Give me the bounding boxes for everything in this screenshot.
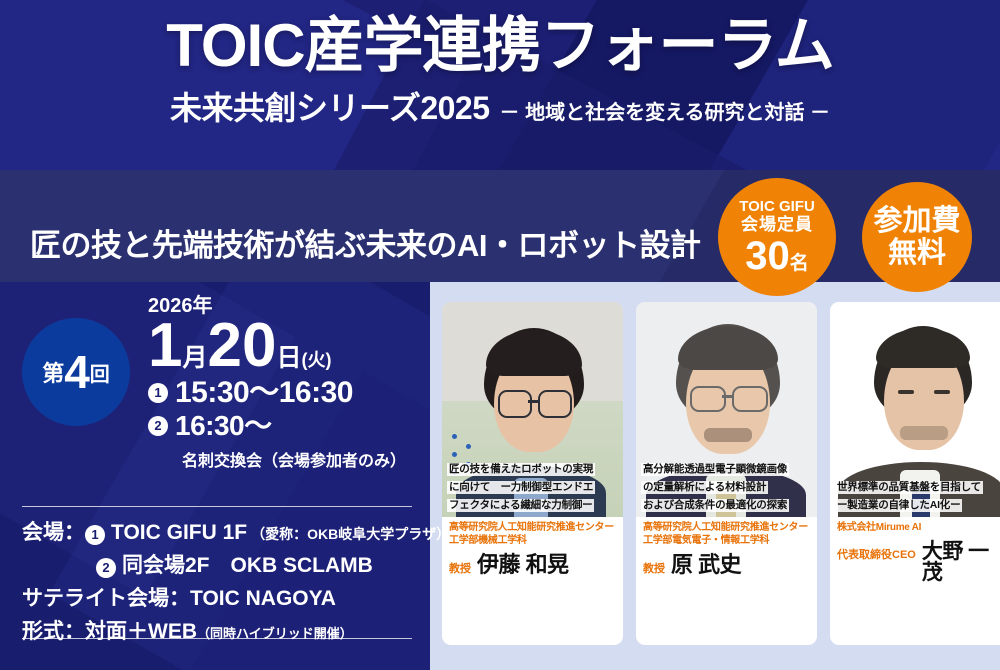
capacity-badge-value: 30名 bbox=[745, 236, 809, 276]
venue-row-2: 2 同会場2F OKB SCLAMB bbox=[96, 549, 422, 579]
photo-glasses-bridge bbox=[528, 400, 538, 403]
speaker-name-row: 教授 原 武史 bbox=[643, 554, 810, 576]
speaker-meta: 高等研究院人工知能研究推進センター 工学部機械工学科 教授 伊藤 和晃 bbox=[442, 517, 623, 645]
speaker-name: 原 武史 bbox=[671, 554, 741, 576]
venue-2-marker: 2 bbox=[96, 558, 116, 578]
capacity-unit: 名 bbox=[790, 253, 809, 274]
photo-caption: 世界標準の品質基盤を目指して ー製造業の自律したAI化ー bbox=[830, 477, 1000, 517]
fee-badge-label: 参加費 bbox=[873, 205, 960, 237]
speaker-name-row: 代表取締役CEO 大野 一茂 bbox=[837, 541, 1000, 583]
caption-line: 高分解能透過型電子顕微鏡画像 bbox=[641, 463, 789, 476]
speaker-photo: 匠の技を備えたロボットの実現 に向けて ー力制御型エンドエ フェクタによる繊細な… bbox=[442, 302, 623, 517]
speaker-name: 伊藤 和晃 bbox=[477, 554, 569, 576]
speaker-affiliation-line: 株式会社Mirume AI bbox=[837, 521, 1000, 534]
event-day-unit: 日 bbox=[276, 346, 301, 374]
networking-note: 名刺交換会（会場参加者のみ） bbox=[148, 447, 406, 471]
venue-2-name: 同会場2F OKB SCLAMB bbox=[122, 549, 373, 579]
fee-badge-value: 無料 bbox=[888, 237, 946, 269]
poster-header: TOIC産学連携フォーラム 未来共創シリーズ2025 － 地域と社会を変える研究… bbox=[0, 0, 1000, 170]
capacity-badge: TOIC GIFU 会場定員 30名 bbox=[718, 178, 836, 296]
poster-series-title: 未来共創シリーズ2025 bbox=[170, 92, 490, 124]
capacity-badge-venue: TOIC GIFU bbox=[739, 198, 815, 215]
photo-glasses-left bbox=[690, 386, 726, 412]
venue-1-alias: （愛称：OKB岐阜大学プラザ） bbox=[251, 524, 450, 544]
speaker-photo: 世界標準の品質基盤を目指して ー製造業の自律したAI化ー bbox=[830, 302, 1000, 517]
speaker-card[interactable]: 高分解能透過型電子顕微鏡画像 の定量解析による材料設計 および合成条件の最適化の… bbox=[636, 302, 817, 645]
capacity-badge-label: 会場定員 bbox=[741, 215, 813, 235]
session-number-badge: 第 4 回 bbox=[22, 318, 130, 426]
photo-beard bbox=[900, 426, 948, 440]
photo-caption: 高分解能透過型電子顕微鏡画像 の定量解析による材料設計 および合成条件の最適化の… bbox=[636, 459, 817, 517]
speaker-card[interactable]: 匠の技を備えたロボットの実現 に向けて ー力制御型エンドエ フェクタによる繊細な… bbox=[442, 302, 623, 645]
photo-glasses-left bbox=[498, 390, 532, 418]
event-month-number: 1 bbox=[148, 318, 182, 374]
caption-line: ー製造業の自律したAI化ー bbox=[835, 499, 962, 512]
event-day-of-week: (火) bbox=[301, 351, 331, 374]
session-1-time: 15:30〜16:30 bbox=[175, 378, 353, 408]
speaker-role: 代表取締役CEO bbox=[837, 546, 916, 562]
poster-tagline: － 地域と社会を変える研究と対話 － bbox=[500, 103, 831, 123]
divider-bottom bbox=[22, 638, 412, 639]
caption-line: フェクタによる繊細な力制御ー bbox=[447, 499, 594, 512]
event-day-number: 20 bbox=[208, 318, 277, 374]
session-2-time: 16:30〜 bbox=[175, 412, 272, 440]
format-note: （同時ハイブリッド開催） bbox=[197, 623, 353, 642]
format-row: 形式：対面＋WEB （同時ハイブリッド開催） bbox=[22, 615, 422, 645]
poster-subtitle-row: 未来共創シリーズ2025 － 地域と社会を変える研究と対話 － bbox=[0, 92, 1000, 124]
photo-glasses-bridge bbox=[722, 395, 732, 398]
session-2-marker: 2 bbox=[148, 416, 168, 436]
speaker-affiliation-line: 高等研究院人工知能研究推進センター bbox=[449, 521, 616, 534]
photo-beard bbox=[704, 428, 752, 442]
venue-1-marker: 1 bbox=[85, 525, 105, 545]
caption-line: および合成条件の最適化の探索 bbox=[641, 499, 789, 512]
session-1-time-row: 1 15:30〜16:30 bbox=[148, 378, 406, 408]
speaker-affiliation-line: 工学部機械工学科 bbox=[449, 534, 616, 547]
speaker-meta: 株式会社Mirume AI 代表取締役CEO 大野 一茂 bbox=[830, 517, 1000, 645]
event-date-line: 1 月 20 日 (火) bbox=[148, 318, 406, 374]
capacity-number: 30 bbox=[745, 234, 790, 278]
speaker-role: 教授 bbox=[449, 560, 471, 576]
poster-title: TOIC産学連携フォーラム bbox=[0, 16, 1000, 76]
caption-line: の定量解析による材料設計 bbox=[641, 481, 768, 494]
speaker-name-row: 教授 伊藤 和晃 bbox=[449, 554, 616, 576]
speaker-affiliation-line: 工学部電気電子・情報工学科 bbox=[643, 534, 810, 547]
speaker-photo: 高分解能透過型電子顕微鏡画像 の定量解析による材料設計 および合成条件の最適化の… bbox=[636, 302, 817, 517]
speaker-name: 大野 一茂 bbox=[922, 541, 1000, 583]
speaker-affiliation-line: 高等研究院人工知能研究推進センター bbox=[643, 521, 810, 534]
speaker-card[interactable]: 世界標準の品質基盤を目指して ー製造業の自律したAI化ー 株式会社Mirume … bbox=[830, 302, 1000, 645]
speaker-card-list: 匠の技を備えたロボットの実現 に向けて ー力制御型エンドエ フェクタによる繊細な… bbox=[442, 302, 1000, 645]
venue-1-name: TOIC GIFU 1F bbox=[111, 521, 247, 545]
event-date-block: 2026年 1 月 20 日 (火) 1 15:30〜16:30 2 16:30… bbox=[148, 296, 406, 471]
event-poster: TOIC産学連携フォーラム 未来共創シリーズ2025 － 地域と社会を変える研究… bbox=[0, 0, 1000, 670]
caption-line: 世界標準の品質基盤を目指して bbox=[835, 481, 983, 494]
photo-glasses-right bbox=[732, 386, 768, 412]
photo-caption: 匠の技を備えたロボットの実現 に向けて ー力制御型エンドエ フェクタによる繊細な… bbox=[442, 459, 623, 517]
photo-eyebrow-right bbox=[934, 390, 950, 394]
venue-info: 会場： 1 TOIC GIFU 1F （愛称：OKB岐阜大学プラザ） 2 同会場… bbox=[22, 516, 422, 648]
divider-top bbox=[22, 506, 412, 507]
event-year: 2026年 bbox=[148, 296, 406, 316]
caption-line: に向けて ー力制御型エンドエ bbox=[447, 481, 595, 494]
fee-badge: 参加費 無料 bbox=[862, 182, 972, 292]
format-label: 形式：対面＋WEB bbox=[22, 615, 197, 645]
theme-bar: 匠の技と先端技術が結ぶ未来のAI・ロボット設計 bbox=[0, 170, 1000, 282]
event-month-unit: 月 bbox=[182, 346, 207, 374]
speaker-meta: 高等研究院人工知能研究推進センター 工学部電気電子・情報工学科 教授 原 武史 bbox=[636, 517, 817, 645]
photo-glasses-right bbox=[538, 390, 572, 418]
session-number-suffix: 回 bbox=[90, 358, 110, 387]
session-1-marker: 1 bbox=[148, 383, 168, 403]
session-number-prefix: 第 bbox=[42, 356, 64, 388]
session-number-value: 4 bbox=[64, 349, 90, 395]
venue-row-1: 会場： 1 TOIC GIFU 1F （愛称：OKB岐阜大学プラザ） bbox=[22, 516, 422, 546]
theme-title: 匠の技と先端技術が結ぶ未来のAI・ロボット設計 bbox=[30, 220, 701, 265]
session-2-time-row: 2 16:30〜 bbox=[148, 412, 406, 440]
speaker-role: 教授 bbox=[643, 560, 665, 576]
satellite-venue: サテライト会場：TOIC NAGOYA bbox=[22, 582, 422, 612]
caption-line: 匠の技を備えたロボットの実現 bbox=[447, 463, 595, 476]
venue-label: 会場： bbox=[22, 516, 85, 546]
photo-eyebrow-left bbox=[898, 390, 914, 394]
